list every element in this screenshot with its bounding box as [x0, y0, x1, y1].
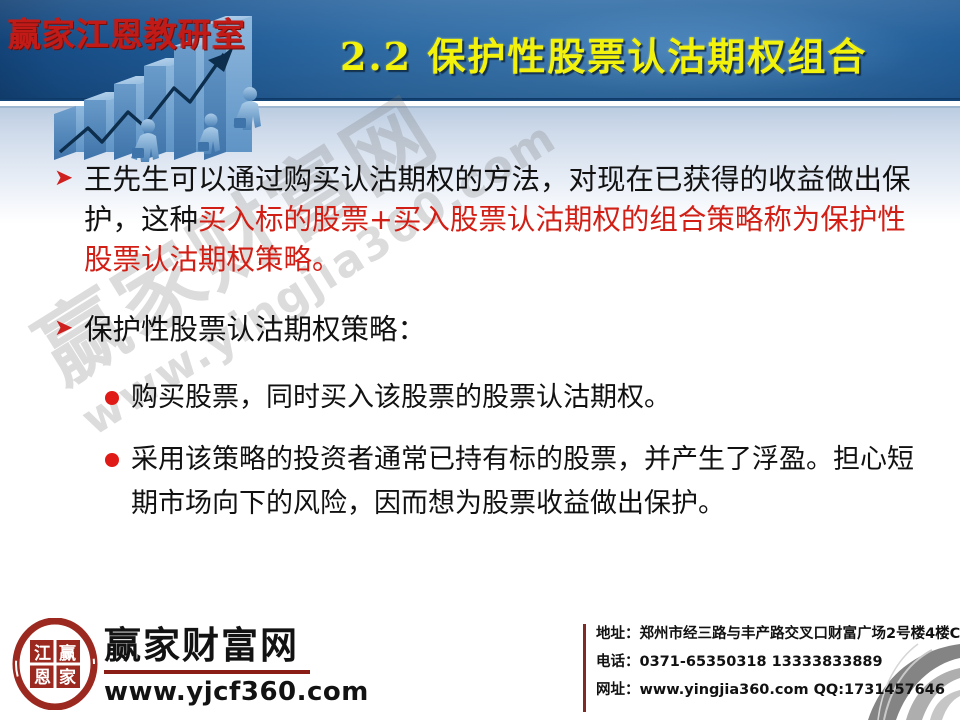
- bullet-1-text-red: 买入标的股票+买入股票认沽期权的组合策略称为保护性股票认沽期权策略。: [84, 203, 906, 276]
- contact-website: 网址：www.yingjia360.com QQ:1731457646: [596, 676, 960, 704]
- contact-info: 地址：郑州市经三路与丰产路交叉口财富广场2号楼4楼C户 电话：0371-6535…: [596, 620, 960, 704]
- sub-bullet-item-1: 购买股票，同时买入该股票的股票认沽期权。: [105, 376, 920, 420]
- company-seal-logo: 江 赢 恩 家: [12, 618, 98, 710]
- sub-bullet-1-text: 购买股票，同时买入该股票的股票认沽期权。: [131, 376, 920, 420]
- svg-text:江: 江: [34, 644, 51, 664]
- contact-address: 地址：郑州市经三路与丰产路交叉口财富广场2号楼4楼C户: [596, 620, 960, 648]
- slide-root: 赢家江恩教研室 2.2 保护性股票认沽期权组合 赢家财富网 www.yingji…: [0, 0, 960, 720]
- dot-bullet-icon: [105, 438, 131, 467]
- lab-name-title: 赢家江恩教研室: [8, 8, 246, 56]
- brand-underline: [104, 670, 310, 674]
- bullet-2-text: 保护性股票认沽期权策略：: [84, 310, 920, 350]
- bullet-item-1: ➤ 王先生可以通过购买认沽期权的方法，对现在已获得的收益做出保护，这种买入标的股…: [52, 160, 920, 286]
- brand-name: 赢家财富网: [104, 626, 369, 666]
- sub-bullet-2-text: 采用该策略的投资者通常已持有标的股票，并产生了浮盈。担心短期市场向下的风险，因而…: [131, 438, 920, 526]
- slide-content: ➤ 王先生可以通过购买认沽期权的方法，对现在已获得的收益做出保护，这种买入标的股…: [0, 160, 960, 526]
- svg-text:赢: 赢: [59, 643, 76, 664]
- page-title: 2.2 保护性股票认沽期权组合: [340, 26, 867, 81]
- arrow-bullet-icon: ➤: [52, 310, 84, 346]
- contact-divider: [583, 624, 586, 712]
- svg-text:恩: 恩: [34, 668, 51, 688]
- sub-bullet-item-2: 采用该策略的投资者通常已持有标的股票，并产生了浮盈。担心短期市场向下的风险，因而…: [105, 438, 920, 526]
- brand-url: www.yjcf360.com: [104, 677, 369, 707]
- footer-rule: [0, 600, 960, 601]
- bullet-item-2: ➤ 保护性股票认沽期权策略：: [52, 310, 920, 356]
- brand-block: 赢家财富网 www.yjcf360.com: [104, 626, 369, 707]
- svg-text:家: 家: [59, 667, 76, 688]
- contact-phone: 电话：0371-65350318 13333833889: [596, 648, 960, 676]
- dot-bullet-icon: [105, 376, 131, 405]
- arrow-bullet-icon: ➤: [52, 160, 84, 196]
- bullet-1-text: 王先生可以通过购买认沽期权的方法，对现在已获得的收益做出保护，这种买入标的股票+…: [84, 160, 920, 280]
